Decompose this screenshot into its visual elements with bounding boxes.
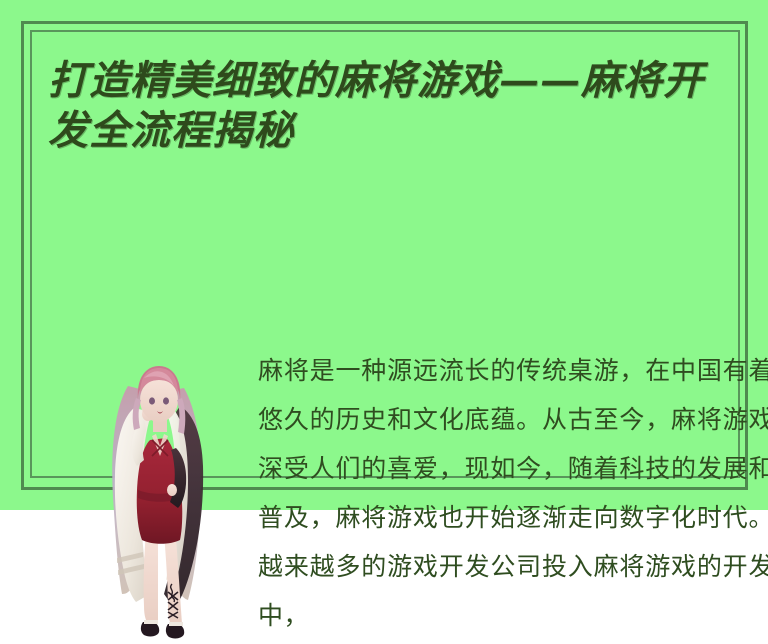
anime-girl-icon (88, 344, 228, 644)
article-body: 麻将是一种源远流长的传统桌游，在中国有着悠久的历史和文化底蕴。从古至今，麻将游戏… (258, 346, 768, 640)
page-title: 打造精美细致的麻将游戏——麻将开发全流程揭秘 (48, 56, 728, 156)
character-illustration (88, 344, 228, 644)
page-root: 打造精美细致的麻将游戏——麻将开发全流程揭秘 (0, 0, 768, 510)
content-area: 麻将是一种源远流长的传统桌游，在中国有着悠久的历史和文化底蕴。从古至今，麻将游戏… (40, 168, 730, 468)
article-body-paragraph: 麻将是一种源远流长的传统桌游，在中国有着悠久的历史和文化底蕴。从古至今，麻将游戏… (258, 346, 768, 640)
